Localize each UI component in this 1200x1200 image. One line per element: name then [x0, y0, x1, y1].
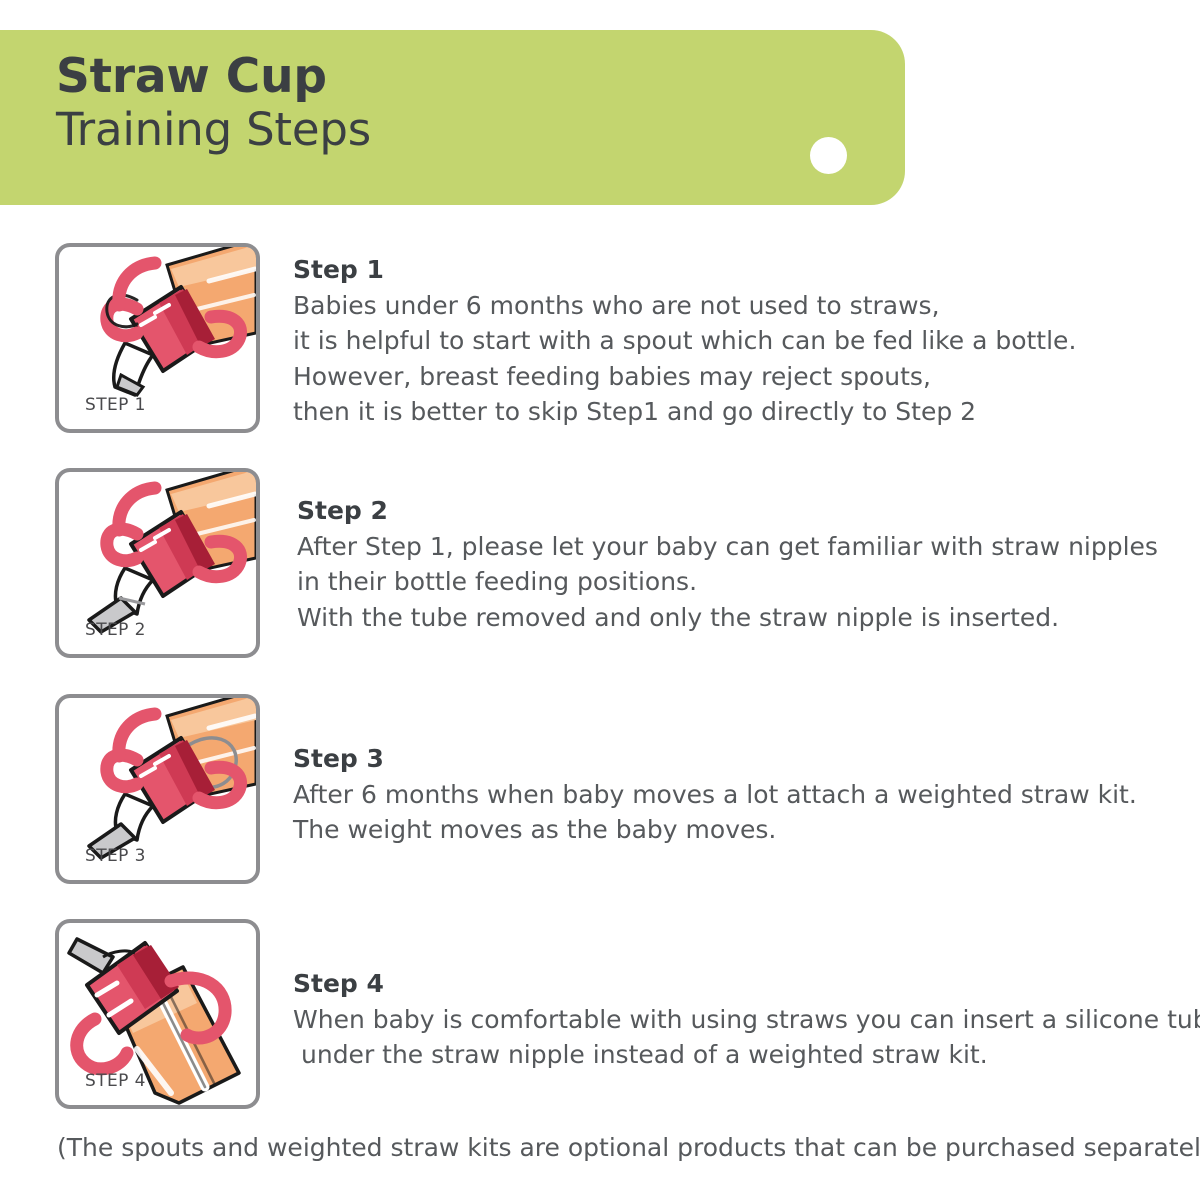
step-4-line-1: When baby is comfortable with using stra…	[293, 1002, 1193, 1038]
step-3-text-block: Step 3 After 6 months when baby moves a …	[293, 742, 1193, 848]
header-banner: Straw Cup Training Steps	[0, 30, 905, 205]
step-3-heading: Step 3	[293, 742, 1193, 777]
step-2-line-3: With the tube removed and only the straw…	[297, 600, 1197, 636]
step-1-heading: Step 1	[293, 253, 1193, 288]
step-1-line-4: then it is better to skip Step1 and go d…	[293, 394, 1193, 430]
step-2-text-block: Step 2 After Step 1, please let your bab…	[297, 494, 1197, 635]
step-row-4: STEP 4 Step 4 When baby is comfortable w…	[0, 919, 1200, 1114]
step-row-1: STEP 1 Step 1 Babies under 6 months who …	[0, 243, 1200, 438]
step-1-line-1: Babies under 6 months who are not used t…	[293, 288, 1193, 324]
step-1-line-2: it is helpful to start with a spout whic…	[293, 323, 1193, 359]
step-1-icon-label: STEP 1	[85, 395, 146, 415]
step-row-2: STEP 2 Step 2 After Step 1, please let y…	[0, 468, 1200, 663]
step-1-illustration-box: STEP 1	[55, 243, 260, 433]
straw-cup-training-steps-page: Straw Cup Training Steps	[0, 0, 1200, 1200]
step-1-text-block: Step 1 Babies under 6 months who are not…	[293, 253, 1193, 430]
hole-punch-circle-icon	[810, 137, 847, 174]
step-3-illustration-box: STEP 3	[55, 694, 260, 884]
step-4-illustration-box: STEP 4	[55, 919, 260, 1109]
step-2-line-2: in their bottle feeding positions.	[297, 564, 1197, 600]
step-4-icon-label: STEP 4	[85, 1071, 146, 1091]
step-3-line-1: After 6 months when baby moves a lot att…	[293, 777, 1193, 813]
step-4-heading: Step 4	[293, 967, 1193, 1002]
step-3-icon-label: STEP 3	[85, 846, 146, 866]
step-4-text-block: Step 4 When baby is comfortable with usi…	[293, 967, 1193, 1073]
step-row-3: STEP 3 Step 3 After 6 months when baby m…	[0, 694, 1200, 889]
step-4-line-2: under the straw nipple instead of a weig…	[293, 1037, 1193, 1073]
header-title-group: Straw Cup Training Steps	[56, 48, 371, 156]
step-2-illustration-box: STEP 2	[55, 468, 260, 658]
footer-note: (The spouts and weighted straw kits are …	[57, 1133, 1200, 1162]
page-title: Straw Cup	[56, 48, 371, 105]
step-1-line-3: However, breast feeding babies may rejec…	[293, 359, 1193, 395]
step-2-line-1: After Step 1, please let your baby can g…	[297, 529, 1197, 565]
page-subtitle: Training Steps	[56, 103, 371, 156]
step-2-heading: Step 2	[297, 494, 1197, 529]
step-3-line-2: The weight moves as the baby moves.	[293, 812, 1193, 848]
step-2-icon-label: STEP 2	[85, 620, 146, 640]
